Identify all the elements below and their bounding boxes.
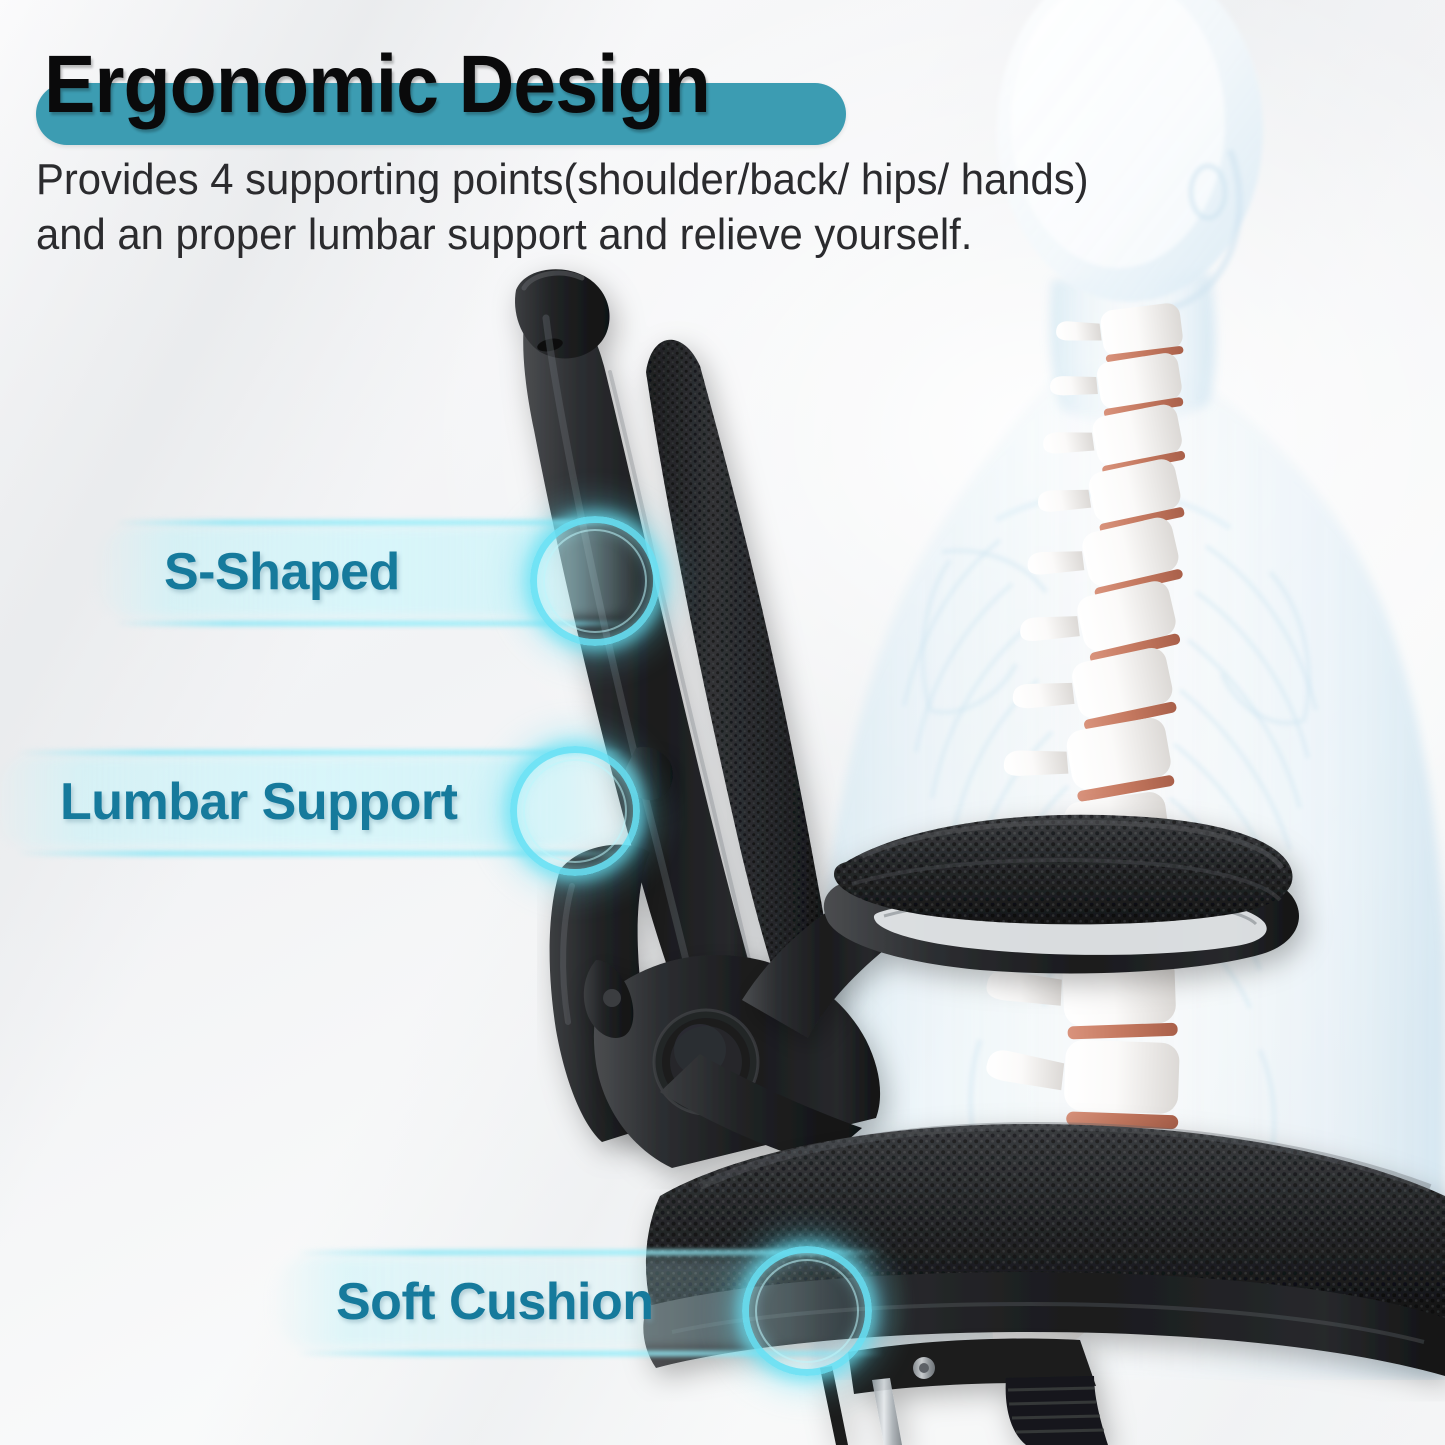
callout-label-s-shaped: S-Shaped bbox=[164, 542, 400, 602]
glow-ring-marker-icon bbox=[742, 1246, 872, 1376]
page-title: Ergonomic Design bbox=[44, 44, 710, 126]
callout-glow-line-top bbox=[16, 750, 623, 755]
glow-ring-inner-icon bbox=[755, 1259, 859, 1363]
callout-soft-cushion: Soft Cushion bbox=[270, 1242, 910, 1362]
glow-ring-inner-icon bbox=[543, 529, 647, 633]
callout-label-lumbar-support: Lumbar Support bbox=[60, 772, 457, 832]
callout-lumbar-support: Lumbar Support bbox=[0, 742, 650, 862]
glow-ring-marker-icon bbox=[530, 516, 660, 646]
glow-ring-marker-icon bbox=[510, 746, 640, 876]
callout-glow-line-top bbox=[114, 520, 629, 525]
glow-ring-inner-icon bbox=[523, 759, 627, 863]
product-feature-infographic: Ergonomic Design Provides 4 supporting p… bbox=[0, 0, 1445, 1445]
page-subtitle: Provides 4 supporting points(shoulder/ba… bbox=[36, 152, 1205, 263]
callout-s-shaped: S-Shaped bbox=[92, 512, 652, 632]
callout-label-soft-cushion: Soft Cushion bbox=[336, 1272, 654, 1332]
header-block: Ergonomic Design bbox=[0, 28, 1000, 146]
